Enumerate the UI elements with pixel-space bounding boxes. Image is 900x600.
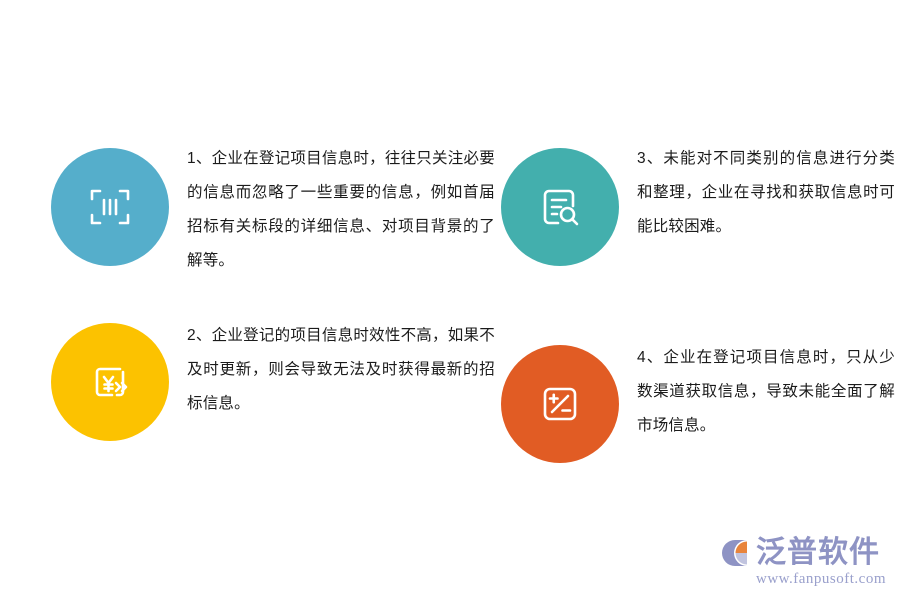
icon-circle-4 — [501, 345, 619, 463]
info-item-1-text: 1、企业在登记项目信息时，往往只关注必要的信息而忽略了一些重要的信息，例如首届招… — [175, 130, 495, 278]
logo-name: 泛普软件 — [756, 538, 880, 568]
fanpu-logo-mark-icon — [718, 537, 752, 569]
logo-row: 泛普软件 — [718, 537, 880, 569]
document-search-icon — [537, 184, 583, 230]
icon-circle-2 — [51, 323, 169, 441]
icon-circle-3 — [501, 148, 619, 266]
feature-grid: 1、企业在登记项目信息时，往往只关注必要的信息而忽略了一些重要的信息，例如首届招… — [45, 130, 895, 463]
logo-url: www.fanpusoft.com — [756, 571, 886, 588]
icon-circle-wrap-1 — [45, 130, 175, 266]
currency-transfer-icon — [87, 359, 133, 405]
icon-circle-wrap-3 — [495, 130, 625, 266]
info-item-4: 4、企业在登记项目信息时，只从少数渠道获取信息，导致未能全面了解市场信息。 — [495, 315, 895, 463]
icon-circle-1 — [51, 148, 169, 266]
scan-barcode-icon — [87, 184, 133, 230]
info-item-2: 2、企业登记的项目信息时效性不高，如果不及时更新，则会导致无法及时获得最新的招标… — [45, 315, 495, 463]
icon-circle-wrap-4 — [495, 315, 625, 463]
info-item-3: 3、未能对不同类别的信息进行分类和整理，企业在寻找和获取信息时可能比较困难。 — [495, 130, 895, 315]
info-item-1: 1、企业在登记项目信息时，往往只关注必要的信息而忽略了一些重要的信息，例如首届招… — [45, 130, 495, 315]
brand-logo: 泛普软件 www.fanpusoft.com — [718, 537, 886, 588]
icon-circle-wrap-2 — [45, 315, 175, 441]
plus-minus-icon — [537, 381, 583, 427]
info-item-4-text: 4、企业在登记项目信息时，只从少数渠道获取信息，导致未能全面了解市场信息。 — [625, 315, 895, 443]
infographic-board: 1、企业在登记项目信息时，往往只关注必要的信息而忽略了一些重要的信息，例如首届招… — [0, 0, 900, 600]
info-item-2-text: 2、企业登记的项目信息时效性不高，如果不及时更新，则会导致无法及时获得最新的招标… — [175, 315, 495, 421]
info-item-3-text: 3、未能对不同类别的信息进行分类和整理，企业在寻找和获取信息时可能比较困难。 — [625, 130, 895, 244]
